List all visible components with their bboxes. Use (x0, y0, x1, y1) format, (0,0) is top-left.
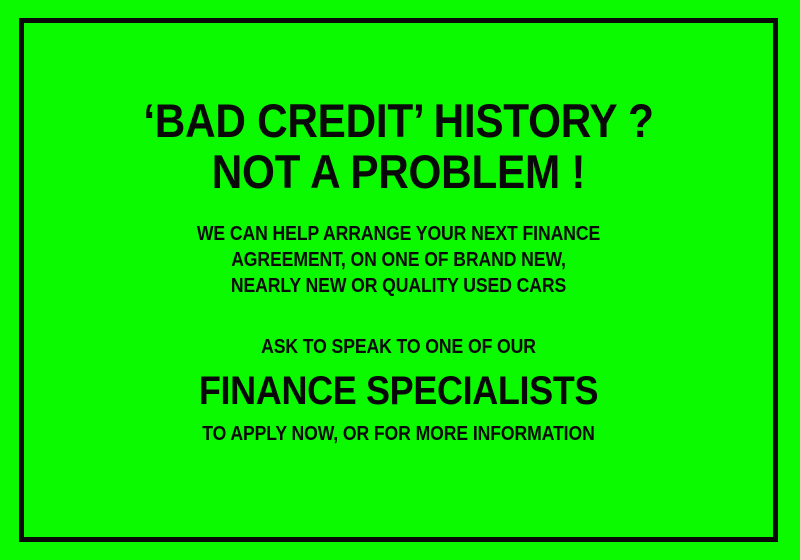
headline-line-1: ‘BAD CREDIT’ HISTORY ? (61, 95, 735, 146)
body-line-1: WE CAN HELP ARRANGE YOUR NEXT FINANCE (69, 221, 728, 247)
ask-to-speak-line: ASK TO SPEAK TO ONE OF OUR (69, 334, 728, 360)
body-line-3: NEARLY NEW OR QUALITY USED CARS (69, 273, 728, 299)
poster-content: ‘BAD CREDIT’ HISTORY ? NOT A PROBLEM ! W… (24, 23, 773, 537)
apply-now-line: TO APPLY NOW, OR FOR MORE INFORMATION (69, 421, 728, 447)
headline-line-2: NOT A PROBLEM ! (61, 146, 735, 197)
call-to-action-block: ASK TO SPEAK TO ONE OF OUR FINANCE SPECI… (24, 334, 773, 447)
body-line-2: AGREEMENT, ON ONE OF BRAND NEW, (69, 247, 728, 273)
advertisement-poster: ‘BAD CREDIT’ HISTORY ? NOT A PROBLEM ! W… (0, 0, 800, 560)
finance-specialists-heading: FINANCE SPECIALISTS (61, 366, 735, 416)
body-text-block: WE CAN HELP ARRANGE YOUR NEXT FINANCE AG… (24, 221, 773, 299)
headline-block: ‘BAD CREDIT’ HISTORY ? NOT A PROBLEM ! (24, 95, 773, 197)
